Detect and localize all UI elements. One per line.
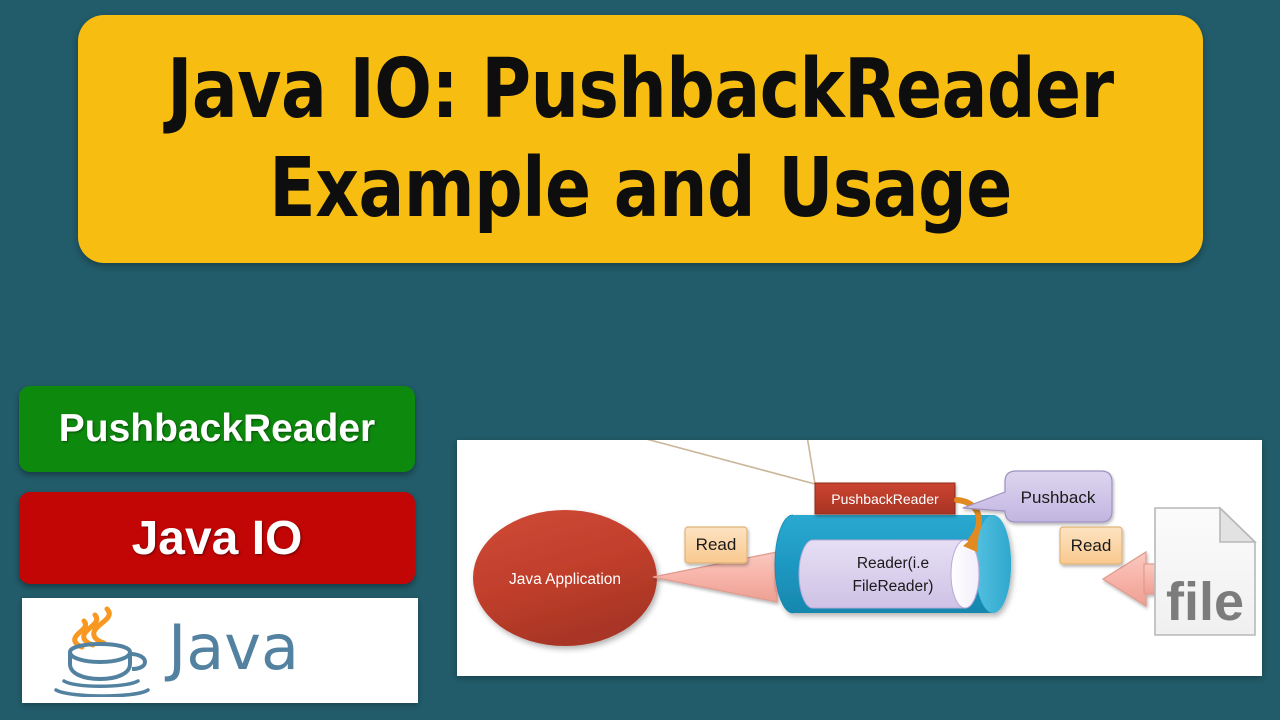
java-cup-icon — [50, 605, 154, 697]
slide-canvas: Java IO: PushbackReader Example and Usag… — [0, 0, 1280, 720]
edge-label-read-left-text: Read — [696, 535, 737, 554]
badge-pushbackreader: PushbackReader — [19, 386, 415, 472]
java-wordmark: Java — [168, 617, 299, 685]
pushback-callout-label: Pushback — [1021, 488, 1096, 507]
page-title-line-1: Java IO: PushbackReader — [167, 47, 1113, 132]
reader-cylinder-label-line2: FileReader) — [853, 578, 934, 595]
pushback-reader-box-label: PushbackReader — [831, 491, 939, 507]
page-title-line-2: Example and Usage — [269, 146, 1012, 231]
title-banner: Java IO: PushbackReader Example and Usag… — [78, 15, 1203, 263]
java-logo-panel: Java — [22, 598, 418, 703]
diagram-panel: Java Application Read Reader — [457, 440, 1262, 676]
reader-cylinder-label-line1: Reader(i.e — [857, 555, 929, 572]
file-icon-label: file — [1166, 572, 1244, 632]
node-reader-cylinder — [799, 540, 979, 608]
leader-lines — [635, 440, 815, 484]
java-application-label: Java Application — [509, 571, 621, 588]
diagram-illustration: Java Application Read Reader — [457, 440, 1262, 676]
edge-label-read-right-text: Read — [1071, 536, 1112, 555]
badge-java-io: Java IO — [19, 492, 415, 584]
